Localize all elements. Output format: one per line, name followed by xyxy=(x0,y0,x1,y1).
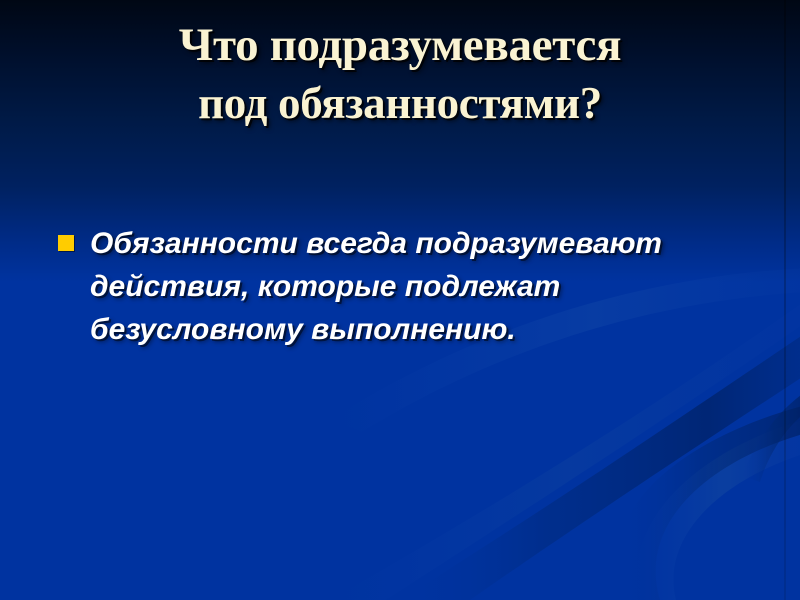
bullet-item-text: Обязанности всегда подразумевают действи… xyxy=(90,222,710,351)
slide-body: Обязанности всегда подразумевают действи… xyxy=(58,222,758,351)
slide-title-line-2: под обязанностями? xyxy=(40,74,760,132)
swoosh-band-diagonal xyxy=(400,330,800,600)
swoosh-arc-inner xyxy=(742,388,800,482)
presentation-slide: Что подразумевается под обязанностями? О… xyxy=(0,0,800,600)
swoosh-arc-outer xyxy=(637,418,800,600)
swoosh-arc-main xyxy=(615,404,800,600)
bullet-list-item: Обязанности всегда подразумевают действи… xyxy=(58,222,758,351)
right-edge-seam xyxy=(784,0,786,600)
square-bullet-icon xyxy=(58,235,74,251)
slide-title: Что подразумевается под обязанностями? xyxy=(40,16,760,132)
slide-title-line-1: Что подразумевается xyxy=(40,16,760,74)
